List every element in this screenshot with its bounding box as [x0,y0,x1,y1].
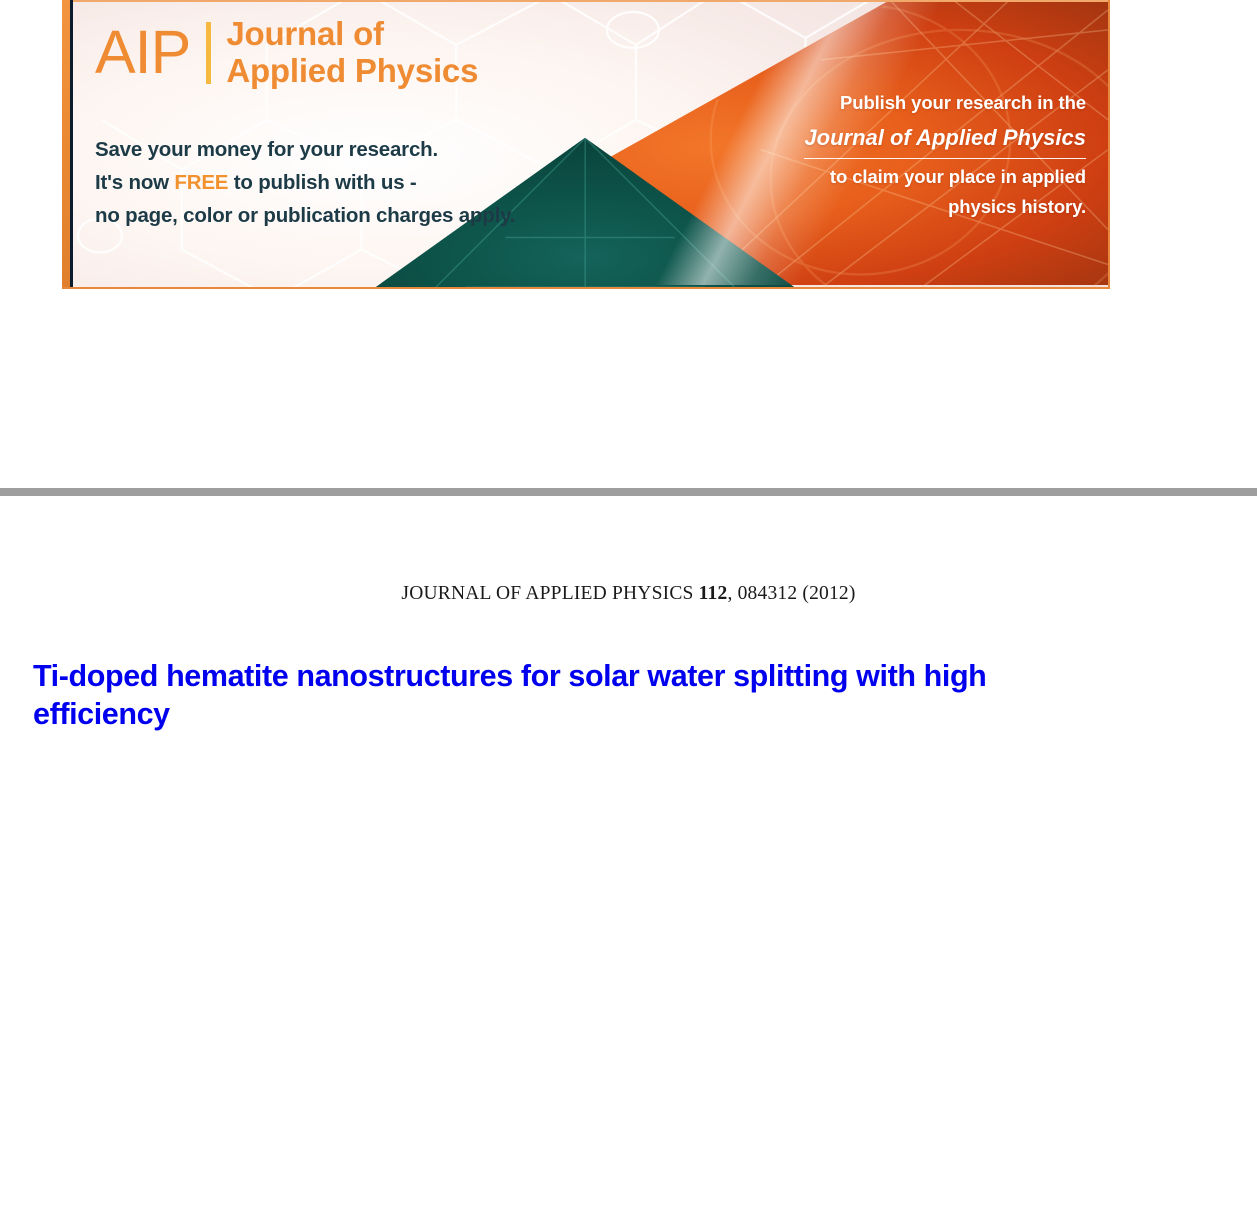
journal-volume: 112 [699,583,728,604]
aip-logo[interactable]: AIP Journal of Applied Physics [95,16,478,90]
tagline-line2-after: to publish with us - [228,171,416,194]
cta-journal-link[interactable]: Journal of Applied Physics [804,120,1086,159]
tagline-line-3: no page, color or publication charges ap… [95,199,515,232]
author-names [222,1214,226,1228]
tagline-line-2: It's now FREE to publish with us - [95,166,515,199]
cta-line-1: Publish your research in the [756,88,1086,118]
tagline-line2-before: It's now [95,171,174,194]
banner-left-orange-stripe [62,0,70,287]
banner-call-to-action[interactable]: Publish your research in the Journal of … [756,88,1086,222]
journal-article-id: 084312 [738,583,798,604]
page-title: Ti-doped hematite nanostructures for sol… [33,658,1095,732]
banner-top-rule [73,0,1108,2]
journal-comma: , [727,583,732,604]
journal-reference-header: JOURNAL OF APPLIED PHYSICS 112, 084312 (… [0,583,1257,605]
author-line [222,1214,982,1228]
cta-journal-link-wrap: Journal of Applied Physics [756,118,1086,162]
tagline-free-highlight: FREE [174,171,228,194]
journal-name: JOURNAL OF APPLIED PHYSICS [401,583,693,604]
cta-line-3: to claim your place in applied [756,162,1086,192]
aip-journal-line2: Applied Physics [226,52,478,89]
page-divider [0,488,1257,496]
paper-content: JOURNAL OF APPLIED PHYSICS 112, 084312 (… [0,496,1257,732]
aip-wordmark: AIP [95,22,190,83]
cta-line-4: physics history. [756,192,1086,222]
banner-tagline: Save your money for your research. It's … [95,133,515,233]
advertisement-banner[interactable]: AIP Journal of Applied Physics Save your… [62,0,1110,289]
banner-left-navy-stripe [70,0,73,287]
aip-journal-name: Journal of Applied Physics [226,16,478,90]
journal-year: (2012) [802,583,855,604]
vertical-bar-icon [206,22,211,84]
aip-journal-line1: Journal of [226,15,384,52]
tagline-line-1: Save your money for your research. [95,133,515,166]
